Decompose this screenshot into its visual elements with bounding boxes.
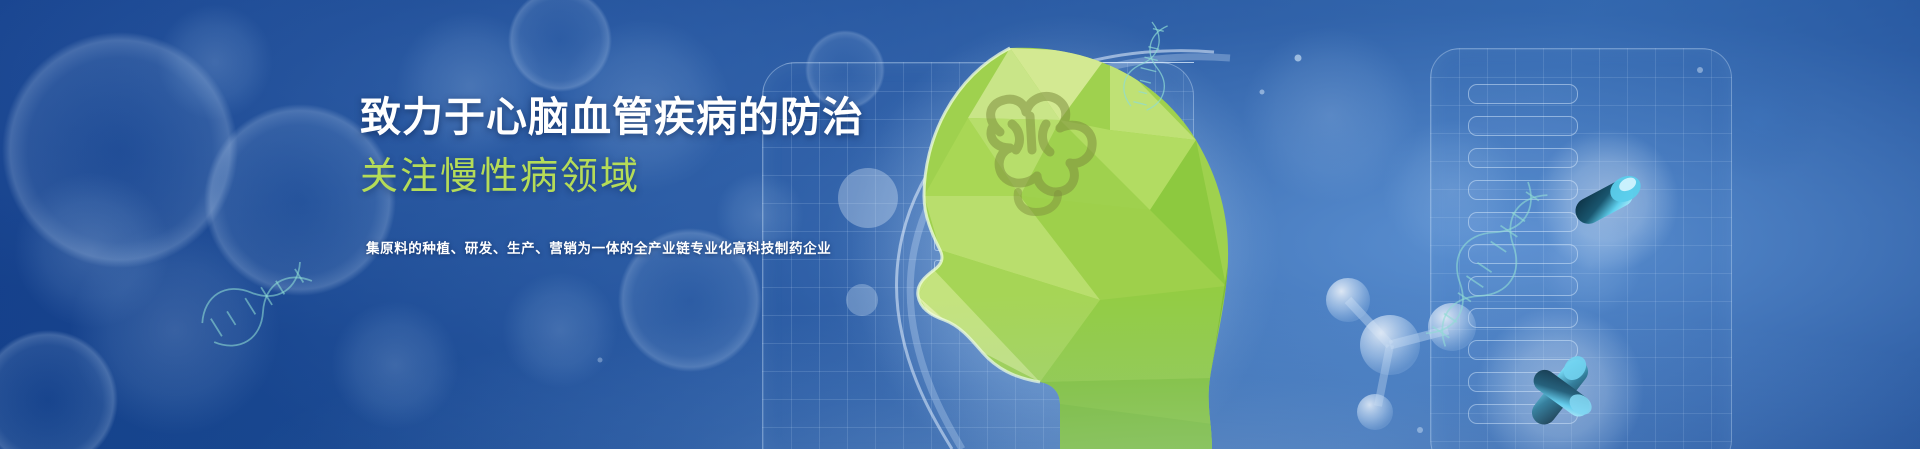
hud-pill [1468, 404, 1578, 424]
hud-pill [1468, 308, 1578, 328]
hud-pill [1468, 116, 1578, 136]
hud-pill [1468, 372, 1578, 392]
hud-pill [1468, 180, 1578, 200]
hud-pill [1468, 84, 1578, 104]
hud-pill [1468, 148, 1578, 168]
banner-subheadline: 关注慢性病领域 [360, 152, 1000, 203]
banner-text-block: 致力于心脑血管疾病的防治 关注慢性病领域 集原料的种植、研发、生产、营销为一体的… [360, 92, 1000, 257]
hud-pill [1468, 276, 1578, 296]
hud-slot [934, 286, 1064, 303]
hud-panel-left-topline [1012, 62, 1194, 63]
healthcare-hero-banner: 致力于心脑血管疾病的防治 关注慢性病领域 集原料的种植、研发、生产、营销为一体的… [0, 0, 1920, 449]
dna-helix-icon [193, 248, 320, 357]
banner-tagline: 集原料的种植、研发、生产、营销为一体的全产业链专业化高科技制药企业 [366, 237, 1000, 257]
hud-pill [1468, 212, 1578, 232]
hud-pill [1468, 244, 1578, 264]
banner-headline: 致力于心脑血管疾病的防治 [360, 92, 1000, 142]
hud-slot [934, 260, 1064, 277]
hud-pill [1468, 340, 1578, 360]
